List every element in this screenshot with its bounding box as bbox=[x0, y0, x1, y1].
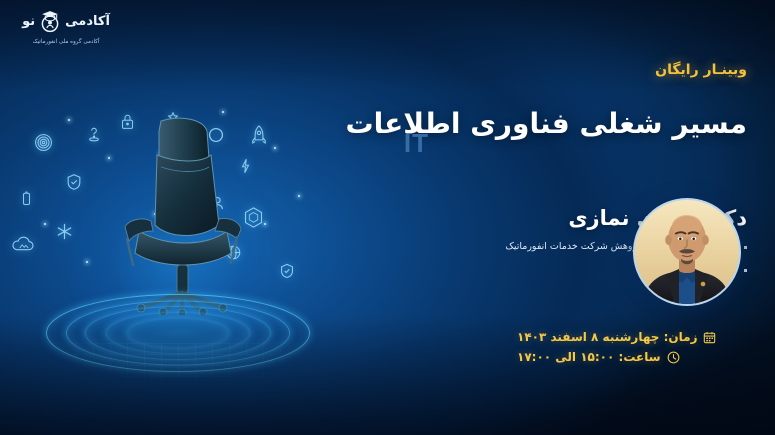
brand-tagline: آکادمی گروه ملی انفورماتیک bbox=[33, 39, 100, 45]
graduation-cap-icon bbox=[37, 8, 63, 34]
shield-check-icon bbox=[280, 263, 294, 283]
calendar-icon bbox=[703, 331, 716, 344]
office-chair-illustration bbox=[103, 115, 263, 319]
avatar bbox=[633, 198, 741, 306]
logo-word-right: آکادمی bbox=[65, 15, 110, 28]
schedule-time-text: ساعت: ۱۵:۰۰ الی ۱۷:۰۰ bbox=[517, 350, 661, 364]
schedule-time-row: ساعت: ۱۵:۰۰ الی ۱۷:۰۰ bbox=[517, 350, 747, 364]
subtitle-latin: IT bbox=[404, 128, 429, 159]
grid-floor bbox=[8, 343, 338, 401]
logo-word-left: نو bbox=[22, 15, 35, 28]
clock-icon bbox=[667, 351, 680, 364]
schedule-date-text: زمان: چهارشنبه ۸ اسفند ۱۴۰۳ bbox=[517, 330, 697, 344]
kicker-free-webinar: وبینـار رایگان bbox=[655, 62, 747, 78]
cloud-icon bbox=[10, 235, 36, 257]
battery-icon bbox=[22, 191, 31, 210]
snowflake-icon bbox=[56, 223, 73, 244]
brand-logo[interactable]: آکادمی نو آکادمی گروه ملی انفورماتیک bbox=[12, 6, 120, 45]
logo-lockup: آکادمی نو bbox=[22, 6, 110, 36]
fingerprint-icon bbox=[34, 133, 53, 156]
question-mark-icon bbox=[86, 125, 102, 147]
schedule-block: زمان: چهارشنبه ۸ اسفند ۱۴۰۳ ساعت: ۱۵:۰۰ … bbox=[517, 330, 747, 370]
hero-illustration bbox=[8, 95, 338, 400]
shield-icon bbox=[66, 173, 82, 195]
webinar-poster: آکادمی نو آکادمی گروه ملی انفورماتیک وبی… bbox=[0, 0, 775, 435]
schedule-date-row: زمان: چهارشنبه ۸ اسفند ۱۴۰۳ bbox=[517, 330, 747, 344]
